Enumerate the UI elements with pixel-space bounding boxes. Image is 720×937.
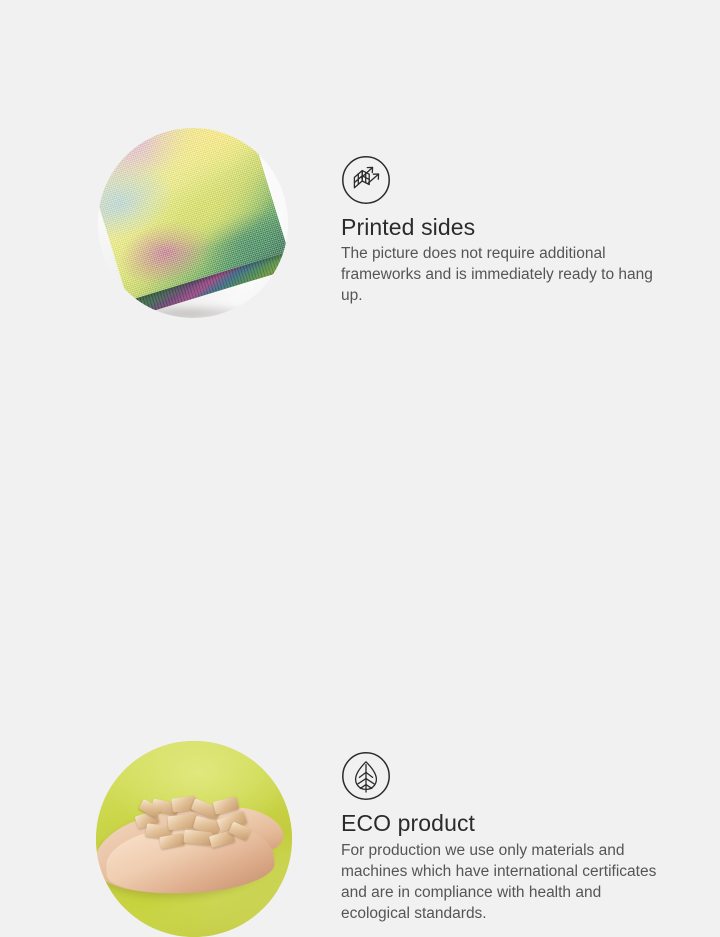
feature-title-printed-sides: Printed sides [341, 214, 475, 241]
wood-chip [159, 833, 185, 849]
feature-title-eco-product: ECO product [341, 810, 475, 837]
canvas-print-object [98, 128, 288, 318]
cupped-hands [96, 793, 292, 901]
leaf-icon [341, 751, 391, 801]
hands-holding-wood-chips-photo [96, 741, 292, 937]
feature-block-eco-product: ECO product For production we use only m… [0, 358, 720, 720]
printed-canvas-wrap-icon [341, 155, 391, 205]
feature-description-eco-product: For production we use only materials and… [341, 840, 671, 924]
feature-description-printed-sides: The picture does not require additional … [341, 243, 671, 306]
wood-chips-pile [134, 797, 252, 853]
canvas-print-corner-photo [98, 128, 288, 318]
feature-block-printed-sides: Printed sides The picture does not requi… [0, 0, 720, 360]
wood-chip [213, 796, 239, 814]
product-feature-infographic: Printed sides The picture does not requi… [0, 0, 720, 720]
